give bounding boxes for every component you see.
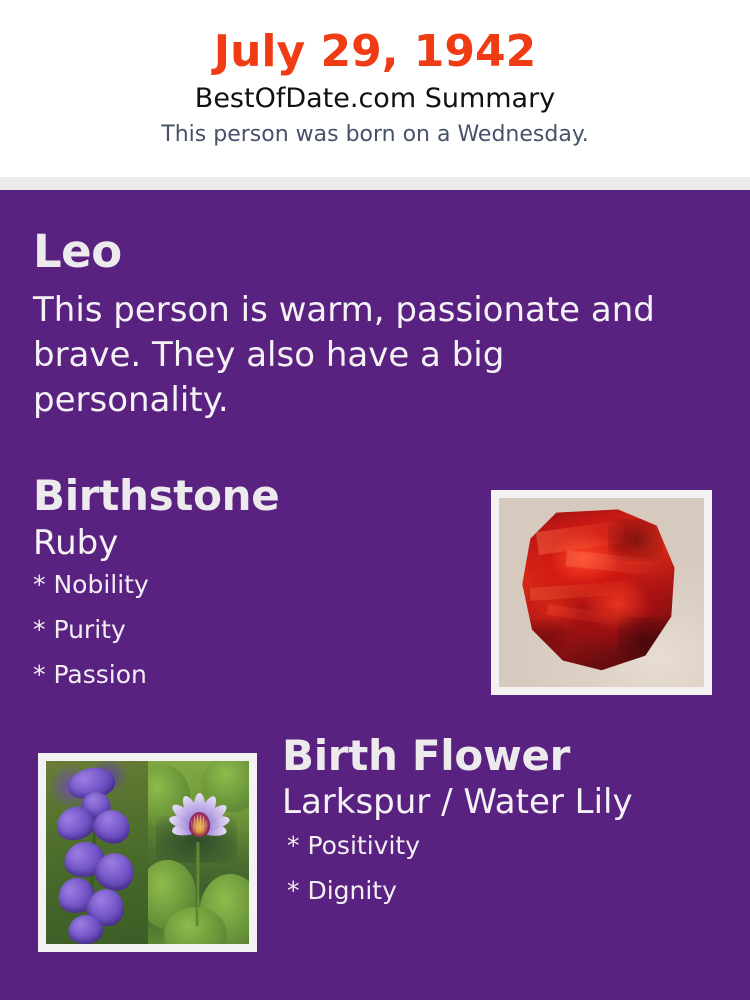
water-lily-bloom bbox=[168, 790, 231, 863]
card-header: July 29, 1942 BestOfDate.com Summary Thi… bbox=[0, 0, 750, 177]
zodiac-section: Leo This person is warm, passionate and … bbox=[33, 229, 693, 423]
site-summary-label: BestOfDate.com Summary bbox=[0, 80, 750, 117]
flower-photo-pair bbox=[46, 761, 249, 944]
birthstone-section: Birthstone Ruby * Nobility * Purity * Pa… bbox=[33, 475, 463, 707]
ruby-shadow-facet bbox=[524, 620, 566, 656]
summary-card: July 29, 1942 BestOfDate.com Summary Thi… bbox=[0, 0, 750, 1000]
list-item: * Positivity bbox=[287, 833, 732, 858]
birthstone-image-frame bbox=[491, 490, 712, 695]
details-panel: Leo This person is warm, passionate and … bbox=[0, 190, 750, 1000]
list-item: * Passion bbox=[33, 662, 463, 687]
day-of-week-line: This person was born on a Wednesday. bbox=[0, 120, 750, 151]
birth-flower-title: Birth Flower bbox=[282, 735, 732, 778]
list-item: * Dignity bbox=[287, 878, 732, 903]
lily-stamen-center bbox=[189, 812, 210, 837]
birthstone-trait-list: * Nobility * Purity * Passion bbox=[33, 572, 463, 687]
ruby-highlight-facet bbox=[530, 580, 644, 601]
birth-flower-trait-list: * Positivity * Dignity bbox=[282, 833, 732, 903]
birth-flower-name: Larkspur / Water Lily bbox=[282, 783, 732, 821]
larkspur-photo bbox=[46, 761, 148, 944]
zodiac-description: This person is warm, passionate and brav… bbox=[33, 288, 683, 423]
page-title-date: July 29, 1942 bbox=[0, 26, 750, 78]
header-divider bbox=[0, 177, 750, 190]
list-item: * Purity bbox=[33, 617, 463, 642]
ruby-gem-shape bbox=[517, 509, 679, 672]
list-item: * Nobility bbox=[33, 572, 463, 597]
birthstone-title: Birthstone bbox=[33, 475, 463, 518]
ruby-crystal-photo bbox=[499, 498, 704, 687]
birth-flower-section: Birth Flower Larkspur / Water Lily * Pos… bbox=[282, 735, 732, 923]
birthstone-name: Ruby bbox=[33, 524, 463, 562]
birth-flower-image-frame bbox=[38, 753, 257, 952]
zodiac-sign-name: Leo bbox=[33, 229, 693, 274]
water-lily-photo bbox=[148, 761, 250, 944]
